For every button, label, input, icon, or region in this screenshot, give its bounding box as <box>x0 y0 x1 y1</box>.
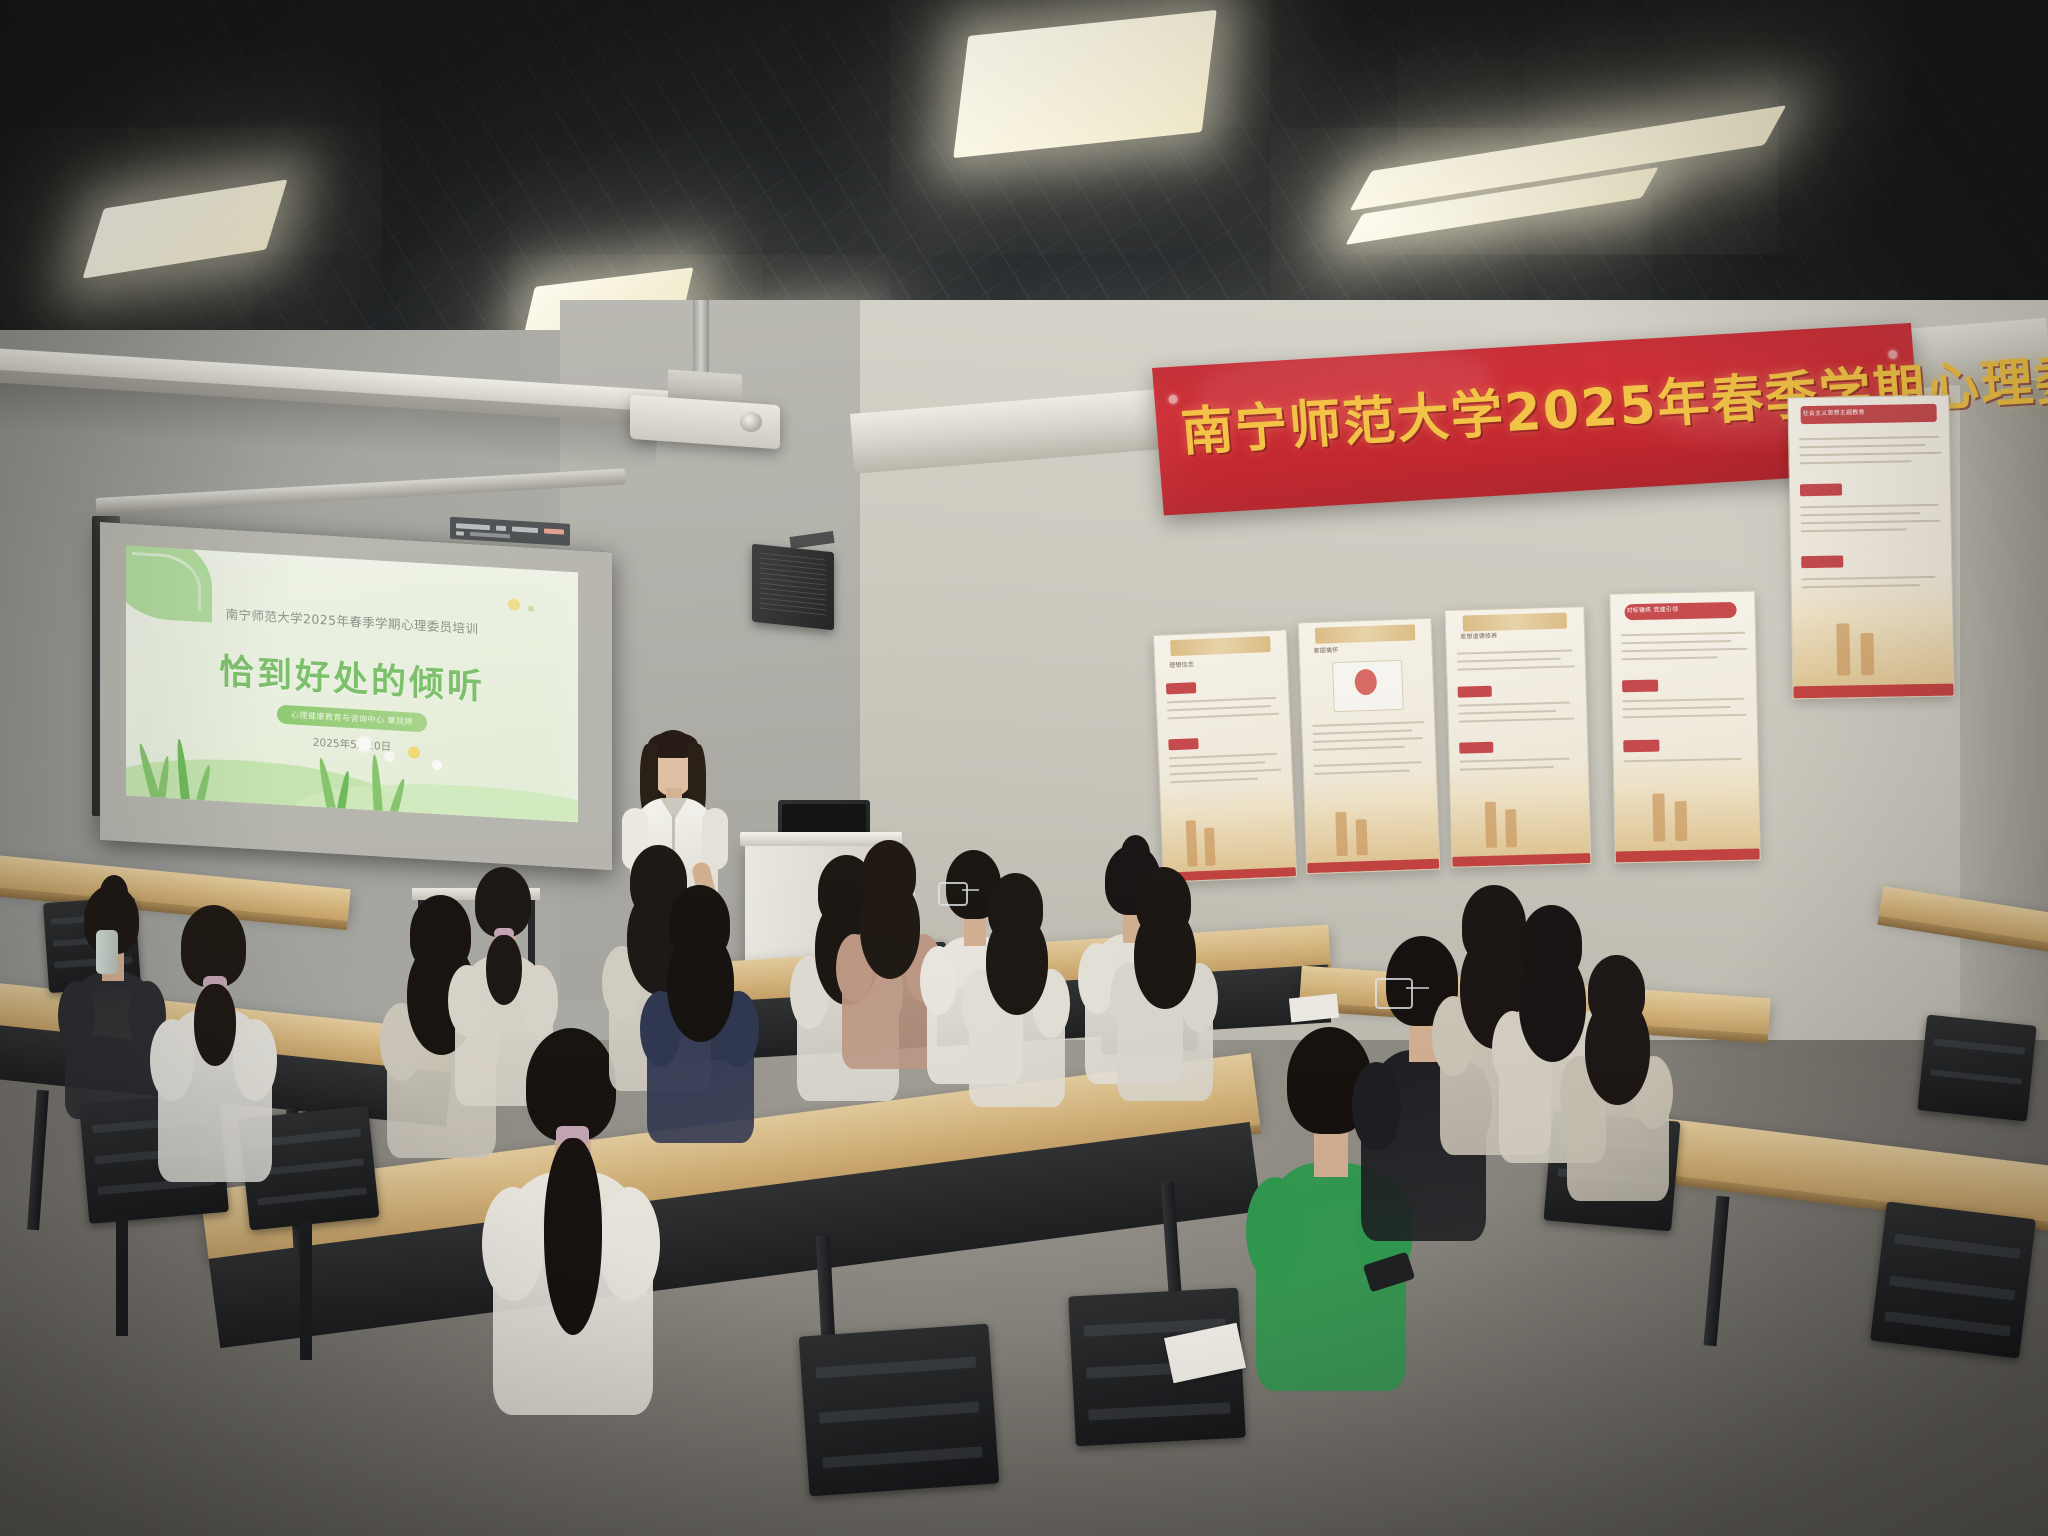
poster-heading-bar <box>1462 613 1567 632</box>
chair-slat <box>819 1401 979 1423</box>
projection-screen: 南宁师范大学2025年春季学期心理委员培训 恰到好处的倾听 心理健康教育与咨询中… <box>100 522 612 870</box>
audience-shoulder-right <box>233 1019 277 1100</box>
toolbar-chip-annotate[interactable] <box>496 526 506 532</box>
chair-slat <box>1884 1311 2010 1336</box>
blob-decoration-2 <box>528 605 534 611</box>
poster-line <box>1167 697 1277 704</box>
poster-line <box>1312 721 1424 727</box>
chair <box>1870 1201 2036 1358</box>
audience-ponytail <box>544 1138 602 1335</box>
presentation-slide: 南宁师范大学2025年春季学期心理委员培训 恰到好处的倾听 心理健康教育与咨询中… <box>126 546 578 823</box>
audience-hair <box>181 905 246 986</box>
chair-post <box>116 1216 128 1336</box>
poster-footer-band <box>1616 848 1760 862</box>
audience-member <box>1110 862 1220 1092</box>
poster-pillar-icon <box>1204 828 1216 866</box>
poster-line <box>1801 520 1941 524</box>
chair-slat <box>1889 1275 2015 1300</box>
poster-pillar-icon <box>1335 812 1348 856</box>
poster-line <box>1622 698 1744 703</box>
poster-line <box>1621 640 1731 644</box>
toolbar-chip-record-indicator[interactable] <box>544 528 564 534</box>
chair-slat <box>1894 1233 2020 1258</box>
poster-line <box>1800 512 1920 516</box>
poster-dune <box>1450 761 1591 867</box>
classroom-photo-scene: 南宁师范大学2025年春季学期心理委员培训 恰到好处的倾听 心理健康教育与咨询中… <box>0 0 2048 1536</box>
audience-shoulder-left <box>482 1187 544 1301</box>
poster-3-heading: 思想道德修养 <box>1460 632 1497 642</box>
projector-mount-pole <box>693 300 709 374</box>
audience-neck <box>1314 1131 1348 1177</box>
chair <box>799 1324 1000 1497</box>
audience-long-hair <box>986 914 1048 1015</box>
chair-slat <box>822 1446 982 1468</box>
toolbar-chip-present[interactable] <box>456 523 490 530</box>
audience-long-hair <box>860 880 920 979</box>
poster-line <box>1799 444 1925 448</box>
audience-long-hair <box>1585 998 1650 1104</box>
chair-slat <box>1930 1069 2023 1085</box>
flower <box>358 737 371 751</box>
poster-pillar-icon <box>1861 633 1875 675</box>
poster-pillar-icon <box>1836 623 1850 675</box>
audience-shoulder-left <box>1246 1177 1304 1284</box>
poster-line <box>1169 761 1265 767</box>
poster-pillar-icon <box>1652 793 1665 841</box>
wall-poster-3: 思想道德修养 <box>1444 606 1591 868</box>
poster-line <box>1800 460 1912 464</box>
poster-footer-band <box>1793 684 1953 699</box>
speaker-grill <box>760 553 826 618</box>
poster-line <box>1801 528 1907 532</box>
poster-line <box>1169 753 1277 760</box>
poster-line <box>1170 769 1282 776</box>
chair-slat <box>816 1357 976 1379</box>
chair <box>1917 1015 2036 1122</box>
poster-red-tag <box>1800 483 1842 496</box>
audience-glasses-icon <box>1375 978 1413 1009</box>
poster-pillar-icon <box>1505 809 1517 847</box>
poster-red-tag <box>1166 682 1196 694</box>
flower <box>432 760 442 771</box>
poster-line <box>1622 656 1718 660</box>
poster-1-heading: 理想信念 <box>1169 660 1194 670</box>
poster-line <box>1800 504 1938 508</box>
poster-4-heading: 对标锤炼 党建引领 <box>1626 605 1678 615</box>
chair-slat <box>1933 1038 2026 1054</box>
toolbar-chip-status <box>456 531 464 535</box>
blob-decoration-1 <box>508 598 520 611</box>
poster-red-tag <box>1459 742 1493 754</box>
poster-2-heading: 家国情怀 <box>1314 646 1339 656</box>
poster-pillar-icon <box>1675 801 1688 841</box>
poster-line <box>1313 729 1413 734</box>
poster-dune <box>1304 769 1439 874</box>
poster-heading-bar <box>1315 624 1416 643</box>
wall-speaker <box>752 544 834 631</box>
flower-yellow <box>408 746 420 759</box>
wall-poster-5: 社会主义思想主题教育 <box>1787 395 1954 700</box>
audience-member <box>962 868 1072 1098</box>
poster-line <box>1457 649 1573 654</box>
chair-slat <box>257 1187 366 1206</box>
poster-red-tag <box>1801 555 1843 568</box>
poster-heading-bar <box>1170 636 1271 656</box>
poster-line <box>1458 702 1570 707</box>
audience-shoulder-right <box>598 1187 660 1301</box>
audience-ponytail <box>486 935 522 1005</box>
audience-ponytail <box>194 984 236 1065</box>
poster-line <box>1313 746 1405 751</box>
wall-poster-2: 家国情怀 <box>1298 618 1441 875</box>
poster-line <box>1623 714 1747 719</box>
poster-line <box>1313 737 1423 743</box>
audience-member <box>150 900 280 1171</box>
audience-shoulder-left <box>1352 1062 1401 1152</box>
poster-line <box>1799 436 1939 440</box>
projector-lens-icon <box>740 412 762 432</box>
bottle-on-desk <box>96 930 118 974</box>
audience-member <box>640 880 761 1133</box>
audience-long-hair <box>1134 908 1196 1009</box>
poster-red-tag <box>1623 740 1659 753</box>
chair-post <box>300 1220 312 1360</box>
poster-line <box>1167 705 1271 711</box>
poster-pillar-icon <box>1356 819 1368 855</box>
poster-line <box>1457 665 1575 670</box>
audience-shoulder-left <box>448 965 486 1035</box>
poster-line <box>1457 658 1561 663</box>
banner-tie-left <box>1168 395 1178 405</box>
poster-line <box>1623 706 1731 710</box>
poster-line <box>1459 717 1575 722</box>
poster-pillar-icon <box>1485 802 1497 848</box>
poster-line <box>1621 632 1745 637</box>
flower <box>384 751 395 763</box>
poster-line <box>1621 648 1747 653</box>
poster-5-heading: 社会主义思想主题教育 <box>1803 408 1865 418</box>
chair-slat <box>1088 1402 1231 1420</box>
poster-red-tag <box>1168 738 1198 750</box>
audience-glasses-arm <box>1406 987 1429 989</box>
poster-line <box>1458 710 1556 715</box>
wall-poster-4: 对标锤炼 党建引领 <box>1609 591 1761 864</box>
audience-member <box>1560 950 1676 1192</box>
audience-long-hair <box>667 931 735 1042</box>
toolbar-chip-menu[interactable] <box>512 526 538 533</box>
poster-line <box>1799 452 1941 456</box>
audience-hair <box>475 867 531 937</box>
audience-shoulder-left <box>150 1019 194 1100</box>
poster-line <box>1167 713 1279 720</box>
poster-red-tag <box>1622 680 1658 693</box>
paper-on-desk-2 <box>1289 994 1339 1023</box>
poster-line <box>1314 761 1422 767</box>
toolbar-chip-label <box>470 532 510 538</box>
slide-main-title: 恰到好处的倾听 <box>126 638 578 716</box>
poster-red-tag <box>1458 686 1492 698</box>
wall-right-return <box>1960 380 2048 1100</box>
